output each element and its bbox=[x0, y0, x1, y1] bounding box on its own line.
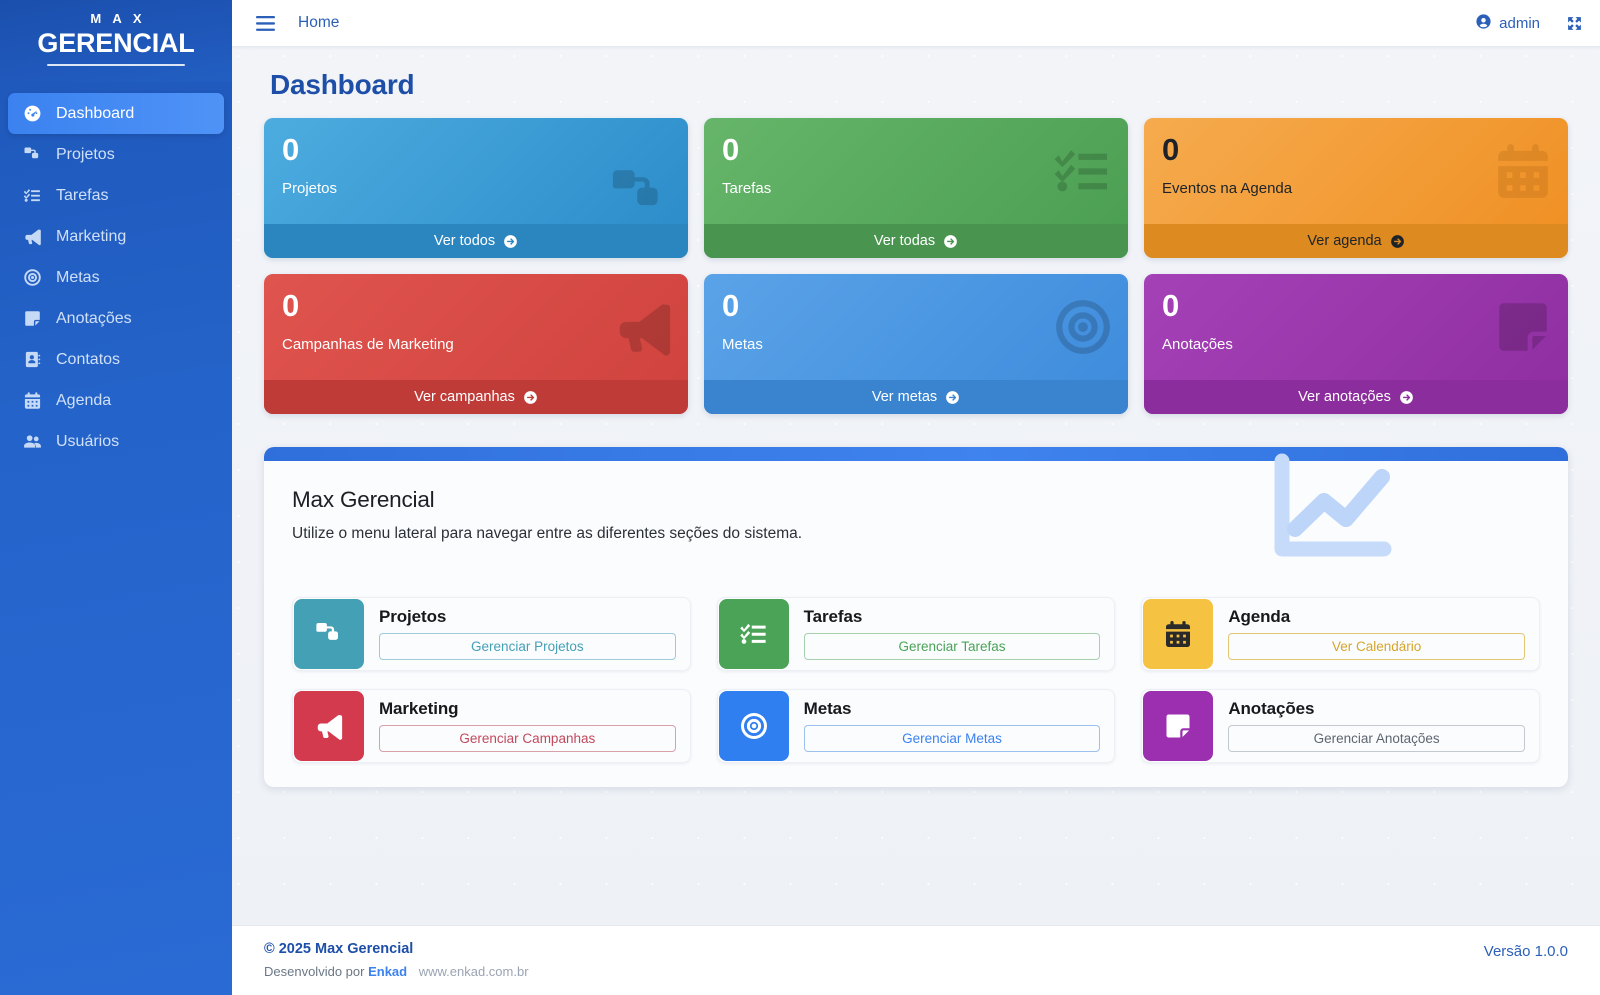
module-title: Agenda bbox=[1228, 607, 1525, 627]
module-title: Anotações bbox=[1228, 699, 1525, 719]
module-action-button-metas[interactable]: Gerenciar Metas bbox=[804, 725, 1101, 752]
module-action-button-marketing[interactable]: Gerenciar Campanhas bbox=[379, 725, 676, 752]
stat-card-grid: 0ProjetosVer todos0TarefasVer todas0Even… bbox=[264, 118, 1568, 414]
module-card-metas: MetasGerenciar Metas bbox=[717, 689, 1116, 763]
module-title: Metas bbox=[804, 699, 1101, 719]
stat-card-body: 0Eventos na Agenda bbox=[1144, 118, 1568, 224]
module-card-agenda: AgendaVer Calendário bbox=[1141, 597, 1540, 671]
stat-label: Eventos na Agenda bbox=[1162, 180, 1550, 197]
module-card-anotacoes: AnotaçõesGerenciar Anotações bbox=[1141, 689, 1540, 763]
sidebar-nav: DashboardProjetosTarefasMarketingMetasAn… bbox=[0, 82, 232, 462]
stat-label: Anotações bbox=[1162, 336, 1550, 353]
address-book-icon bbox=[22, 349, 43, 370]
module-grid: ProjetosGerenciar ProjetosTarefasGerenci… bbox=[292, 597, 1540, 763]
stat-card-tarefas[interactable]: 0TarefasVer todas bbox=[704, 118, 1128, 258]
content-area: Dashboard 0ProjetosVer todos0TarefasVer … bbox=[232, 47, 1600, 907]
calendar-icon bbox=[1143, 599, 1213, 669]
arrow-right-icon bbox=[1399, 390, 1414, 405]
tasks-list-icon bbox=[719, 599, 789, 669]
stat-label: Tarefas bbox=[722, 180, 1110, 197]
module-card-body: AnotaçõesGerenciar Anotações bbox=[1214, 690, 1539, 762]
app-root: M A X GERENCIAL DashboardProjetosTarefas… bbox=[0, 0, 1600, 995]
megaphone-icon bbox=[294, 691, 364, 761]
panel-title: Max Gerencial bbox=[292, 487, 1540, 513]
stat-label: Campanhas de Marketing bbox=[282, 336, 670, 353]
stat-action-label: Ver metas bbox=[872, 389, 937, 405]
brand-eyebrow: M A X bbox=[0, 10, 232, 28]
module-card-body: MetasGerenciar Metas bbox=[790, 690, 1115, 762]
stat-card-body: 0Campanhas de Marketing bbox=[264, 274, 688, 380]
module-title: Projetos bbox=[379, 607, 676, 627]
sidebar-item-label: Projetos bbox=[56, 146, 115, 164]
footer-copyright: © 2025 Max Gerencial bbox=[264, 941, 529, 957]
main-column: Home admin Dashboard bbox=[232, 0, 1600, 995]
stat-card-metas[interactable]: 0MetasVer metas bbox=[704, 274, 1128, 414]
module-card-body: TarefasGerenciar Tarefas bbox=[790, 598, 1115, 670]
panel-subtitle: Utilize o menu lateral para navegar entr… bbox=[292, 525, 1540, 543]
stat-value: 0 bbox=[722, 132, 1110, 168]
arrow-right-icon bbox=[1390, 234, 1405, 249]
breadcrumb[interactable]: Home bbox=[298, 14, 339, 32]
stat-value: 0 bbox=[282, 132, 670, 168]
topbar-actions: admin bbox=[1475, 13, 1583, 34]
footer-left: © 2025 Max Gerencial Desenvolvido por En… bbox=[264, 941, 529, 979]
stat-card-action[interactable]: Ver metas bbox=[704, 380, 1128, 414]
megaphone-icon bbox=[22, 226, 43, 247]
sidebar-item-agenda[interactable]: Agenda bbox=[8, 380, 224, 421]
arrow-right-icon bbox=[503, 234, 518, 249]
stat-card-anotacoes[interactable]: 0AnotaçõesVer anotações bbox=[1144, 274, 1568, 414]
sidebar: M A X GERENCIAL DashboardProjetosTarefas… bbox=[0, 0, 232, 995]
module-action-button-tarefas[interactable]: Gerenciar Tarefas bbox=[804, 633, 1101, 660]
module-action-button-projetos[interactable]: Gerenciar Projetos bbox=[379, 633, 676, 660]
arrow-right-icon bbox=[523, 390, 538, 405]
stat-action-label: Ver todas bbox=[874, 233, 935, 249]
calendar-icon bbox=[22, 390, 43, 411]
module-card-body: AgendaVer Calendário bbox=[1214, 598, 1539, 670]
topbar: Home admin bbox=[232, 0, 1600, 47]
footer-developer-link[interactable]: Enkad bbox=[368, 964, 407, 979]
stat-value: 0 bbox=[1162, 288, 1550, 324]
sidebar-item-contatos[interactable]: Contatos bbox=[8, 339, 224, 380]
module-card-tarefas: TarefasGerenciar Tarefas bbox=[717, 597, 1116, 671]
stat-card-body: 0Tarefas bbox=[704, 118, 1128, 224]
welcome-panel: Max Gerencial Utilize o menu lateral par… bbox=[264, 447, 1568, 787]
footer-website[interactable]: www.enkad.com.br bbox=[419, 964, 529, 979]
panel-body: Max Gerencial Utilize o menu lateral par… bbox=[264, 461, 1568, 787]
sidebar-item-dashboard[interactable]: Dashboard bbox=[8, 93, 224, 134]
sidebar-item-projetos[interactable]: Projetos bbox=[8, 134, 224, 175]
stat-value: 0 bbox=[722, 288, 1110, 324]
tasks-list-icon bbox=[22, 185, 43, 206]
target-icon bbox=[22, 267, 43, 288]
sidebar-item-label: Contatos bbox=[56, 351, 120, 369]
stat-action-label: Ver campanhas bbox=[414, 389, 515, 405]
sidebar-item-label: Agenda bbox=[56, 392, 111, 410]
page-title: Dashboard bbox=[270, 69, 1568, 101]
user-name: admin bbox=[1499, 15, 1540, 32]
sidebar-item-label: Tarefas bbox=[56, 187, 108, 205]
stat-value: 0 bbox=[282, 288, 670, 324]
arrow-right-icon bbox=[943, 234, 958, 249]
stat-label: Projetos bbox=[282, 180, 670, 197]
stat-action-label: Ver todos bbox=[434, 233, 495, 249]
module-title: Marketing bbox=[379, 699, 676, 719]
user-circle-icon bbox=[1475, 13, 1492, 34]
sidebar-item-anotacoes[interactable]: Anotações bbox=[8, 298, 224, 339]
module-card-marketing: MarketingGerenciar Campanhas bbox=[292, 689, 691, 763]
stat-card-action[interactable]: Ver todas bbox=[704, 224, 1128, 258]
module-card-projetos: ProjetosGerenciar Projetos bbox=[292, 597, 691, 671]
gauge-icon bbox=[22, 103, 43, 124]
sidebar-item-metas[interactable]: Metas bbox=[8, 257, 224, 298]
stat-card-body: 0Projetos bbox=[264, 118, 688, 224]
sidebar-item-label: Anotações bbox=[56, 310, 132, 328]
module-action-button-agenda[interactable]: Ver Calendário bbox=[1228, 633, 1525, 660]
stat-card-action[interactable]: Ver agenda bbox=[1144, 224, 1568, 258]
sitemap-icon bbox=[22, 144, 43, 165]
hamburger-icon[interactable] bbox=[254, 12, 276, 34]
brand-title: GERENCIAL bbox=[0, 28, 232, 59]
arrow-right-icon bbox=[945, 390, 960, 405]
stat-card-action[interactable]: Ver todos bbox=[264, 224, 688, 258]
sidebar-item-usuarios[interactable]: Usuários bbox=[8, 421, 224, 462]
stat-label: Metas bbox=[722, 336, 1110, 353]
module-card-body: MarketingGerenciar Campanhas bbox=[365, 690, 690, 762]
stat-card-eventos-na-agenda[interactable]: 0Eventos na AgendaVer agenda bbox=[1144, 118, 1568, 258]
module-action-button-anotacoes[interactable]: Gerenciar Anotações bbox=[1228, 725, 1525, 752]
module-title: Tarefas bbox=[804, 607, 1101, 627]
sidebar-item-marketing[interactable]: Marketing bbox=[8, 216, 224, 257]
module-card-body: ProjetosGerenciar Projetos bbox=[365, 598, 690, 670]
stat-card-campanhas-de-marketing[interactable]: 0Campanhas de MarketingVer campanhas bbox=[264, 274, 688, 414]
stat-card-action[interactable]: Ver anotações bbox=[1144, 380, 1568, 414]
stat-value: 0 bbox=[1162, 132, 1550, 168]
sidebar-item-label: Usuários bbox=[56, 433, 119, 451]
brand-underline bbox=[47, 64, 185, 66]
target-icon bbox=[719, 691, 789, 761]
stat-card-body: 0Anotações bbox=[1144, 274, 1568, 380]
sitemap-icon bbox=[294, 599, 364, 669]
sticky-note-icon bbox=[22, 308, 43, 329]
footer: © 2025 Max Gerencial Desenvolvido por En… bbox=[232, 925, 1600, 995]
stat-card-action[interactable]: Ver campanhas bbox=[264, 380, 688, 414]
stat-action-label: Ver anotações bbox=[1298, 389, 1391, 405]
panel-accent-bar bbox=[264, 447, 1568, 461]
brand-block: M A X GERENCIAL bbox=[0, 0, 232, 82]
user-menu[interactable]: admin bbox=[1475, 13, 1540, 34]
sticky-note-icon bbox=[1143, 691, 1213, 761]
footer-credit-prefix: Desenvolvido por bbox=[264, 964, 364, 979]
footer-version: Versão 1.0.0 bbox=[1484, 941, 1568, 960]
sidebar-item-label: Metas bbox=[56, 269, 100, 287]
expand-arrows-icon[interactable] bbox=[1566, 15, 1583, 32]
stat-action-label: Ver agenda bbox=[1307, 233, 1381, 249]
sidebar-item-tarefas[interactable]: Tarefas bbox=[8, 175, 224, 216]
stat-card-body: 0Metas bbox=[704, 274, 1128, 380]
sidebar-item-label: Marketing bbox=[56, 228, 126, 246]
sidebar-item-label: Dashboard bbox=[56, 105, 134, 123]
footer-credit: Desenvolvido por Enkad www.enkad.com.br bbox=[264, 964, 529, 979]
stat-card-projetos[interactable]: 0ProjetosVer todos bbox=[264, 118, 688, 258]
users-icon bbox=[22, 431, 43, 452]
